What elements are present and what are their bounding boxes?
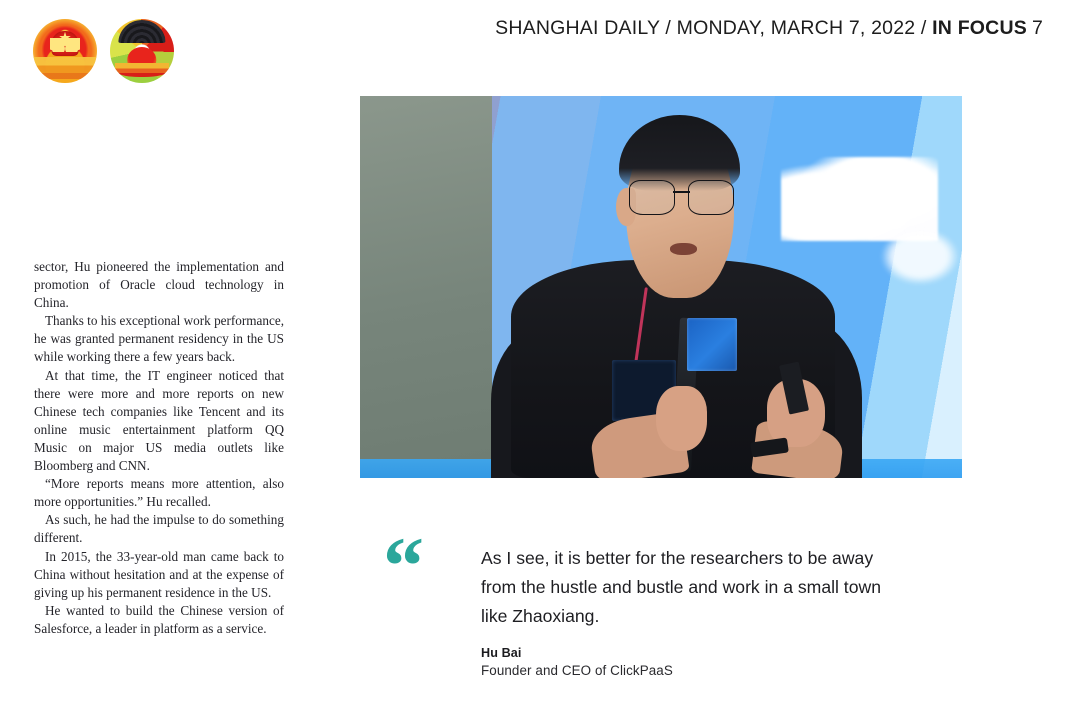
- pullquote-text: As I see, it is better for the researche…: [481, 544, 886, 631]
- article-paragraph: “More reports means more attention, also…: [34, 475, 284, 511]
- article-paragraph: Thanks to his exceptional work performan…: [34, 312, 284, 366]
- photo-glasses-lens-left: [629, 180, 675, 214]
- masthead-header: SHANGHAI DAILY / MONDAY, MARCH 7, 2022 /…: [495, 17, 1043, 40]
- national-emblem-of-china-icon: [33, 19, 97, 83]
- pullquote-block: “ As I see, it is better for the researc…: [383, 540, 943, 678]
- masthead-separator-2: /: [915, 17, 932, 39]
- article-paragraph: sector, Hu pioneered the implementation …: [34, 258, 284, 312]
- photo-hand-holding-microphone: [656, 386, 707, 451]
- photo-glasses-bridge: [673, 191, 690, 193]
- article-photo: [360, 96, 962, 478]
- masthead-page-number: 7: [1032, 17, 1043, 39]
- emblem-ribbon-shape: [115, 63, 169, 77]
- emblem-small-stars-shape: [50, 38, 80, 52]
- article-paragraph: In 2015, the 33-year-old man came back t…: [34, 548, 284, 602]
- masthead-publication: SHANGHAI DAILY: [495, 17, 660, 39]
- quote-mark-icon: “: [383, 534, 455, 598]
- emblem-gear-ring-shape: [118, 20, 165, 43]
- article-body-column: sector, Hu pioneered the implementation …: [34, 258, 284, 638]
- photo-glasses-icon: [629, 180, 734, 212]
- masthead-section: IN FOCUS: [932, 17, 1027, 39]
- photo-glasses-lens-right: [688, 180, 734, 214]
- newspaper-page: SHANGHAI DAILY / MONDAY, MARCH 7, 2022 /…: [0, 0, 1079, 717]
- masthead-date: MONDAY, MARCH 7, 2022: [677, 17, 916, 39]
- photo-cloud-shape-secondary: [878, 226, 962, 287]
- masthead-emblems: [33, 16, 183, 86]
- photo-speaker-figure: [504, 96, 841, 478]
- article-paragraph: As such, he had the impulse to do someth…: [34, 511, 284, 547]
- photo-microphone-flag: [687, 318, 738, 371]
- article-paragraph: He wanted to build the Chinese version o…: [34, 602, 284, 638]
- pullquote-attribution-role: Founder and CEO of ClickPaaS: [481, 663, 943, 678]
- article-paragraph: At that time, the IT engineer noticed th…: [34, 367, 284, 476]
- cppcc-emblem-icon: [110, 19, 174, 83]
- pullquote-body: As I see, it is better for the researche…: [481, 540, 943, 678]
- pullquote-attribution-name: Hu Bai: [481, 646, 943, 660]
- photo-mouth: [670, 243, 697, 255]
- photo-backdrop-left-wall: [360, 96, 492, 478]
- masthead-separator-1: /: [660, 17, 677, 39]
